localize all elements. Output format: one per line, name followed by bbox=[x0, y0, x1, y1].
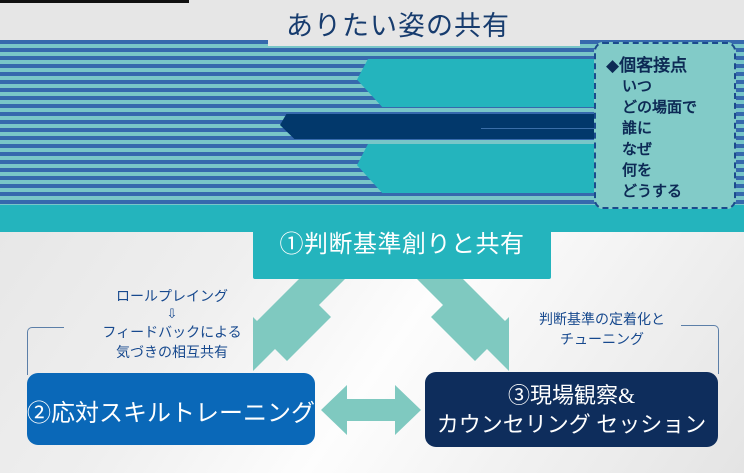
annotation-right: 判断基準の定着化と チューニング bbox=[492, 309, 712, 349]
customer-touchpoint-box: ◆個客接点 いつ どの場面で 誰に なぜ 何を どうする bbox=[594, 42, 736, 209]
page-title: ありたい姿の共有 bbox=[286, 4, 566, 43]
node-skill-training[interactable]: ②応対スキルトレーニング bbox=[27, 373, 315, 445]
top-rule-line bbox=[0, 0, 189, 3]
bracket-left bbox=[27, 327, 64, 375]
info-list-item-1: いつ bbox=[622, 76, 697, 97]
info-box-heading: ◆個客接点 bbox=[606, 51, 687, 76]
info-box-list: いつ どの場面で 誰に なぜ 何を どうする bbox=[622, 76, 697, 202]
info-list-item-3: 誰に bbox=[622, 118, 697, 139]
annotation-left-line2: フィードバックによる bbox=[62, 322, 282, 342]
node-judgement-criteria[interactable]: ①判断基準創りと共有 bbox=[253, 212, 551, 279]
info-list-item-6: どうする bbox=[622, 181, 697, 202]
annotation-right-line2: チューニング bbox=[492, 329, 712, 349]
annotation-right-line1: 判断基準の定着化と bbox=[492, 309, 712, 329]
down-arrow-icon: ⇩ bbox=[62, 306, 282, 322]
node3-label: ③現場観察& カウンセリング セッション bbox=[425, 381, 718, 439]
top-section: ありたい姿の共有 ◆個客接点 いつ どの場面で 誰に なぜ 何を どうする bbox=[0, 0, 744, 232]
info-list-item-2: どの場面で bbox=[622, 97, 697, 118]
slide-canvas: ありたい姿の共有 ◆個客接点 いつ どの場面で 誰に なぜ 何を どうする bbox=[0, 0, 744, 473]
annotation-left: ロールプレイング ⇩ フィードバックによる 気づきの相互共有 bbox=[62, 286, 282, 362]
arrow-node2-node3 bbox=[321, 383, 421, 437]
info-list-item-4: なぜ bbox=[622, 139, 697, 160]
node3-label-line2: カウンセリング セッション bbox=[425, 410, 718, 439]
node1-label: ①判断基準創りと共有 bbox=[253, 224, 551, 259]
info-list-item-5: 何を bbox=[622, 160, 697, 181]
annotation-left-line3: 気づきの相互共有 bbox=[62, 342, 282, 362]
node-field-observation[interactable]: ③現場観察& カウンセリング セッション bbox=[425, 372, 718, 447]
annotation-left-line1: ロールプレイング bbox=[62, 286, 282, 306]
node2-label: ②応対スキルトレーニング bbox=[27, 393, 315, 428]
node3-label-line1: ③現場観察& bbox=[425, 381, 718, 410]
